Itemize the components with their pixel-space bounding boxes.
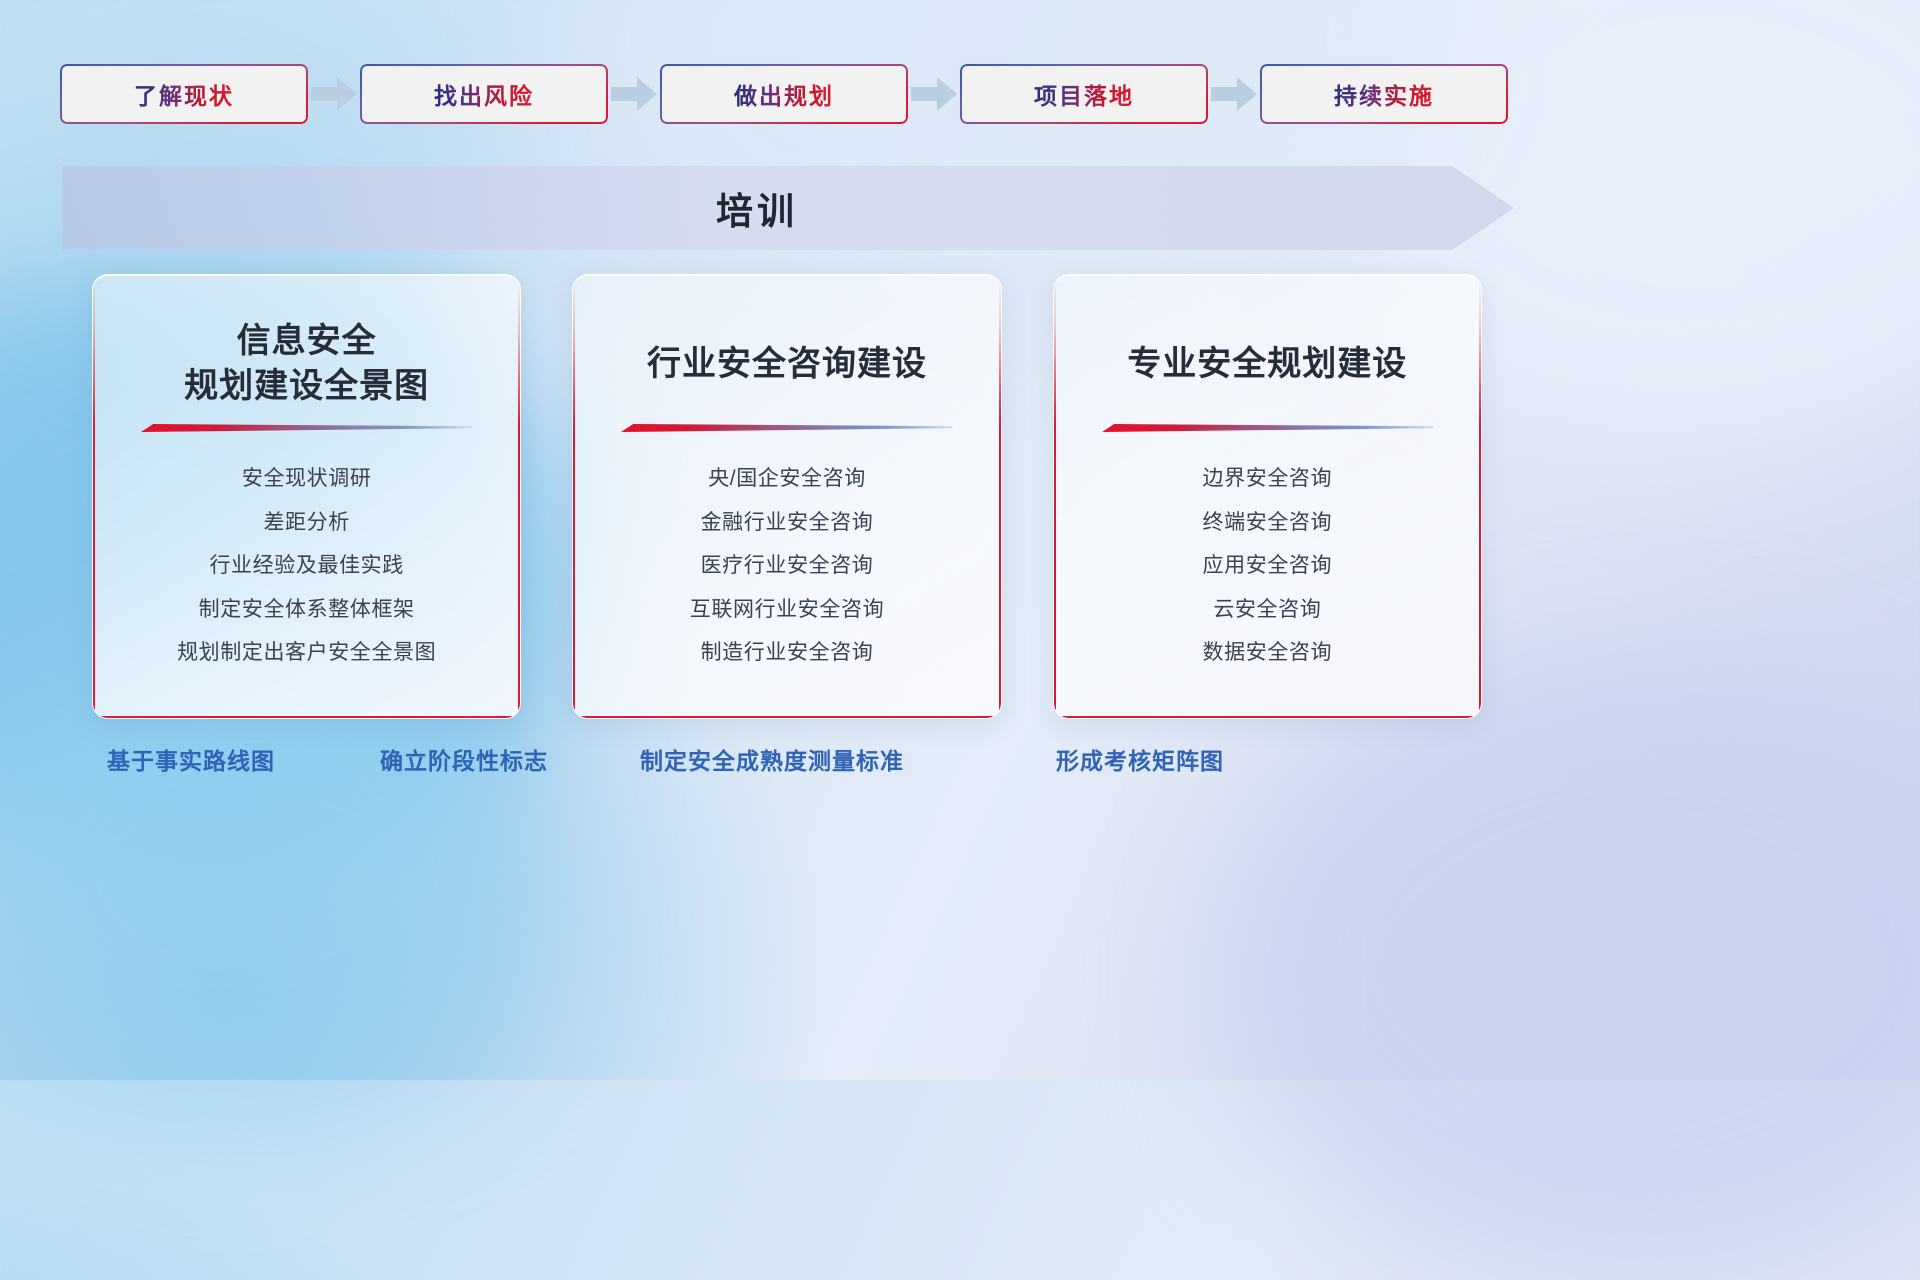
list-item: 央/国企安全咨询 xyxy=(599,463,974,495)
list-item: 云安全咨询 xyxy=(1080,594,1455,626)
card-title-text: 专业安全规划建设 xyxy=(1127,342,1407,387)
footnote-4: 形成考核矩阵图 xyxy=(1056,742,1224,776)
list-item: 医疗行业安全咨询 xyxy=(599,550,974,582)
process-step-4[interactable]: 项目落地 xyxy=(960,64,1208,124)
card-item-list: 边界安全咨询 终端安全咨询 应用安全咨询 云安全咨询 数据安全咨询 xyxy=(1080,463,1455,669)
process-step-1[interactable]: 了解现状 xyxy=(60,64,308,124)
process-step-3-label: 做出规划 xyxy=(734,77,834,111)
process-step-row: 了解现状 找出风险 做出规划 项目落地 持续实施 xyxy=(60,63,1512,125)
training-banner: 培训 xyxy=(62,166,1514,250)
card-accent-line xyxy=(621,423,952,433)
process-step-3[interactable]: 做出规划 xyxy=(660,64,908,124)
process-arrow-3-icon xyxy=(908,77,960,111)
list-item: 金融行业安全咨询 xyxy=(599,507,974,539)
process-step-4-label: 项目落地 xyxy=(1034,77,1134,111)
background-glow-top-center xyxy=(560,0,1460,300)
card-information-security-blueprint[interactable]: 信息安全 规划建设全景图 xyxy=(92,274,521,719)
process-step-5[interactable]: 持续实施 xyxy=(1260,64,1508,124)
footnote-3: 制定安全成熟度测量标准 xyxy=(640,742,904,776)
footnote-2: 确立阶段性标志 xyxy=(380,742,548,776)
list-item: 制造行业安全咨询 xyxy=(599,637,974,669)
list-item: 规划制定出客户安全全景图 xyxy=(119,637,494,669)
footnote-row: 基于事实路线图 确立阶段性标志 制定安全成熟度测量标准 形成考核矩阵图 xyxy=(0,742,1920,788)
card-title: 专业安全规划建设 xyxy=(1080,319,1455,409)
card-title-text: 信息安全 规划建设全景图 xyxy=(184,319,429,409)
process-arrow-2-icon xyxy=(608,77,660,111)
list-item: 行业经验及最佳实践 xyxy=(119,550,494,582)
list-item: 安全现状调研 xyxy=(119,463,494,495)
list-item: 互联网行业安全咨询 xyxy=(599,594,974,626)
list-item: 制定安全体系整体框架 xyxy=(119,594,494,626)
banner-title: 培训 xyxy=(62,166,1452,250)
card-item-list: 安全现状调研 差距分析 行业经验及最佳实践 制定安全体系整体框架 规划制定出客户… xyxy=(119,463,494,669)
card-professional-security-planning[interactable]: 专业安全规划建设 边界安 xyxy=(1053,274,1482,719)
card-row: 信息安全 规划建设全景图 xyxy=(92,274,1482,717)
process-arrow-4-icon xyxy=(1208,77,1260,111)
process-step-5-label: 持续实施 xyxy=(1334,77,1434,111)
card-title: 行业安全咨询建设 xyxy=(599,319,974,409)
list-item: 应用安全咨询 xyxy=(1080,550,1455,582)
list-item: 终端安全咨询 xyxy=(1080,507,1455,539)
footnote-1: 基于事实路线图 xyxy=(107,742,275,776)
card-accent-line xyxy=(141,423,472,433)
list-item: 边界安全咨询 xyxy=(1080,463,1455,495)
card-title: 信息安全 规划建设全景图 xyxy=(119,319,494,409)
card-item-list: 央/国企安全咨询 金融行业安全咨询 医疗行业安全咨询 互联网行业安全咨询 制造行… xyxy=(599,463,974,669)
process-step-2[interactable]: 找出风险 xyxy=(360,64,608,124)
process-step-2-label: 找出风险 xyxy=(434,77,534,111)
card-accent-line xyxy=(1102,423,1433,433)
card-industry-security-consulting[interactable]: 行业安全咨询建设 央/国 xyxy=(572,274,1001,719)
process-arrow-1-icon xyxy=(308,77,360,111)
card-title-text: 行业安全咨询建设 xyxy=(647,342,927,387)
list-item: 数据安全咨询 xyxy=(1080,637,1455,669)
process-step-1-label: 了解现状 xyxy=(134,77,234,111)
list-item: 差距分析 xyxy=(119,507,494,539)
